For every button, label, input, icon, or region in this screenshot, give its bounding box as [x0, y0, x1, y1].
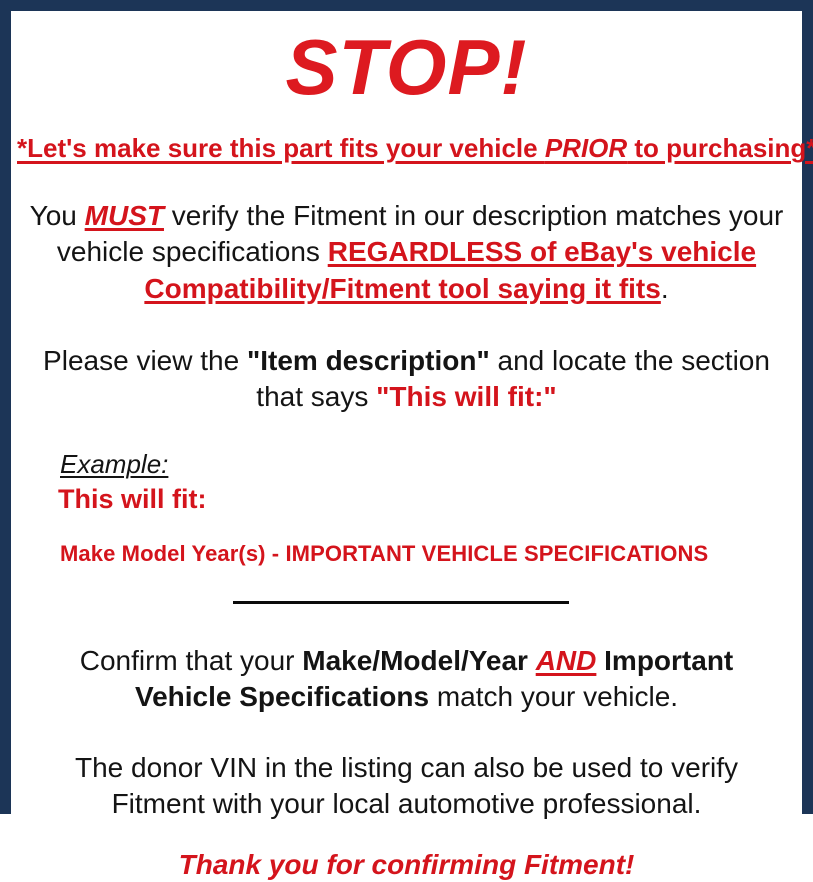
confirm-part-two: match your vehicle.: [429, 681, 678, 712]
example-spec-line: Make Model Year(s) - IMPORTANT VEHICLE S…: [60, 541, 802, 566]
example-label: Example:: [60, 450, 802, 479]
lead-prefix: *Let's make sure this part fits your veh…: [17, 133, 545, 163]
horizontal-divider: [233, 601, 569, 604]
this-will-fit-emphasis: "This will fit:": [376, 381, 557, 412]
confirm-part-one: Confirm that your: [80, 645, 303, 676]
confirm-paragraph: Confirm that your Make/Model/Year AND Im…: [11, 643, 802, 716]
stop-headline: STOP!: [11, 28, 802, 106]
thank-you-line: Thank you for confirming Fitment!: [11, 848, 802, 882]
lead-warning-line: *Let's make sure this part fits your veh…: [11, 134, 802, 164]
and-emphasis: AND: [536, 645, 597, 676]
view-part-one: Please view the: [43, 345, 247, 376]
fitment-notice-frame: STOP! *Let's make sure this part fits yo…: [0, 0, 813, 814]
example-block: Example: This will fit: Make Model Year(…: [11, 450, 802, 567]
lead-suffix: to purchasing*: [627, 133, 813, 163]
fitment-notice-body: STOP! *Let's make sure this part fits yo…: [11, 28, 802, 820]
must-part-three: .: [661, 273, 669, 304]
must-verify-paragraph: You MUST verify the Fitment in our descr…: [11, 198, 802, 307]
example-fit-header: This will fit:: [58, 484, 802, 515]
item-description-emphasis: "Item description": [247, 345, 490, 376]
must-emphasis: MUST: [85, 200, 164, 231]
must-part-one: You: [30, 200, 85, 231]
view-description-paragraph: Please view the "Item description" and l…: [11, 343, 802, 416]
make-model-year-emphasis: Make/Model/Year: [302, 645, 528, 676]
lead-emphasis-prior: PRIOR: [545, 133, 627, 163]
donor-vin-paragraph: The donor VIN in the listing can also be…: [11, 750, 802, 823]
divider-wrap: [11, 593, 802, 613]
